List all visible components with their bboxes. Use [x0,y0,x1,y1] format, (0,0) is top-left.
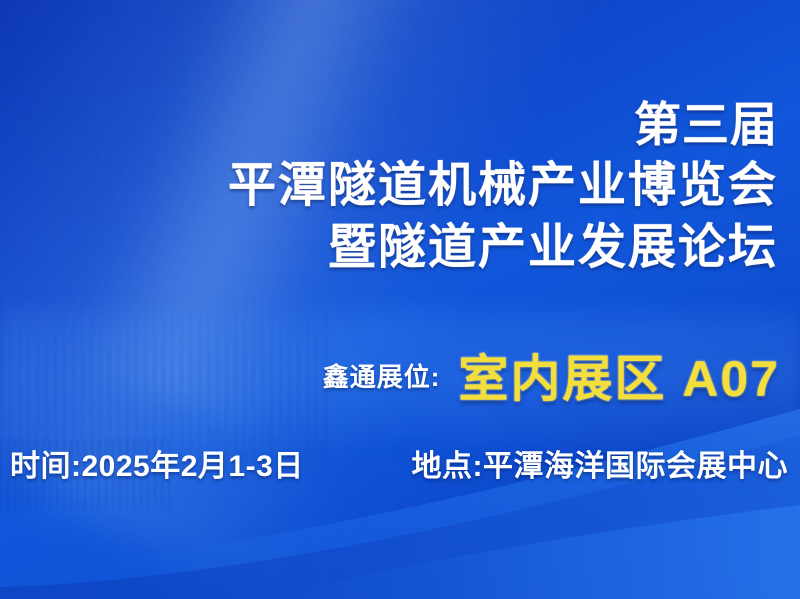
event-date: 时间:2025年2月1-3日 [10,441,304,485]
booth-label: 鑫通展位: [323,357,441,394]
event-venue: 地点:平潭海洋国际会展中心 [412,441,789,485]
exhibition-banner: 第三届 平潭隧道机械产业博览会 暨隧道产业发展论坛 鑫通展位: 室内展区 A07… [0,0,800,599]
title-block: 第三届 平潭隧道机械产业博览会 暨隧道产业发展论坛 [228,100,778,273]
title-main: 平潭隧道机械产业博览会 [228,161,778,211]
booth-row: 鑫通展位: 室内展区 A07 [323,339,780,411]
booth-number: 室内展区 A07 [458,339,780,411]
title-edition: 第三届 [228,100,778,149]
title-subtitle: 暨隧道产业发展论坛 [228,223,778,273]
event-meta-row: 时间:2025年2月1-3日 地点:平潭海洋国际会展中心 [10,441,788,485]
banner-content: 第三届 平潭隧道机械产业博览会 暨隧道产业发展论坛 鑫通展位: 室内展区 A07… [0,0,800,599]
